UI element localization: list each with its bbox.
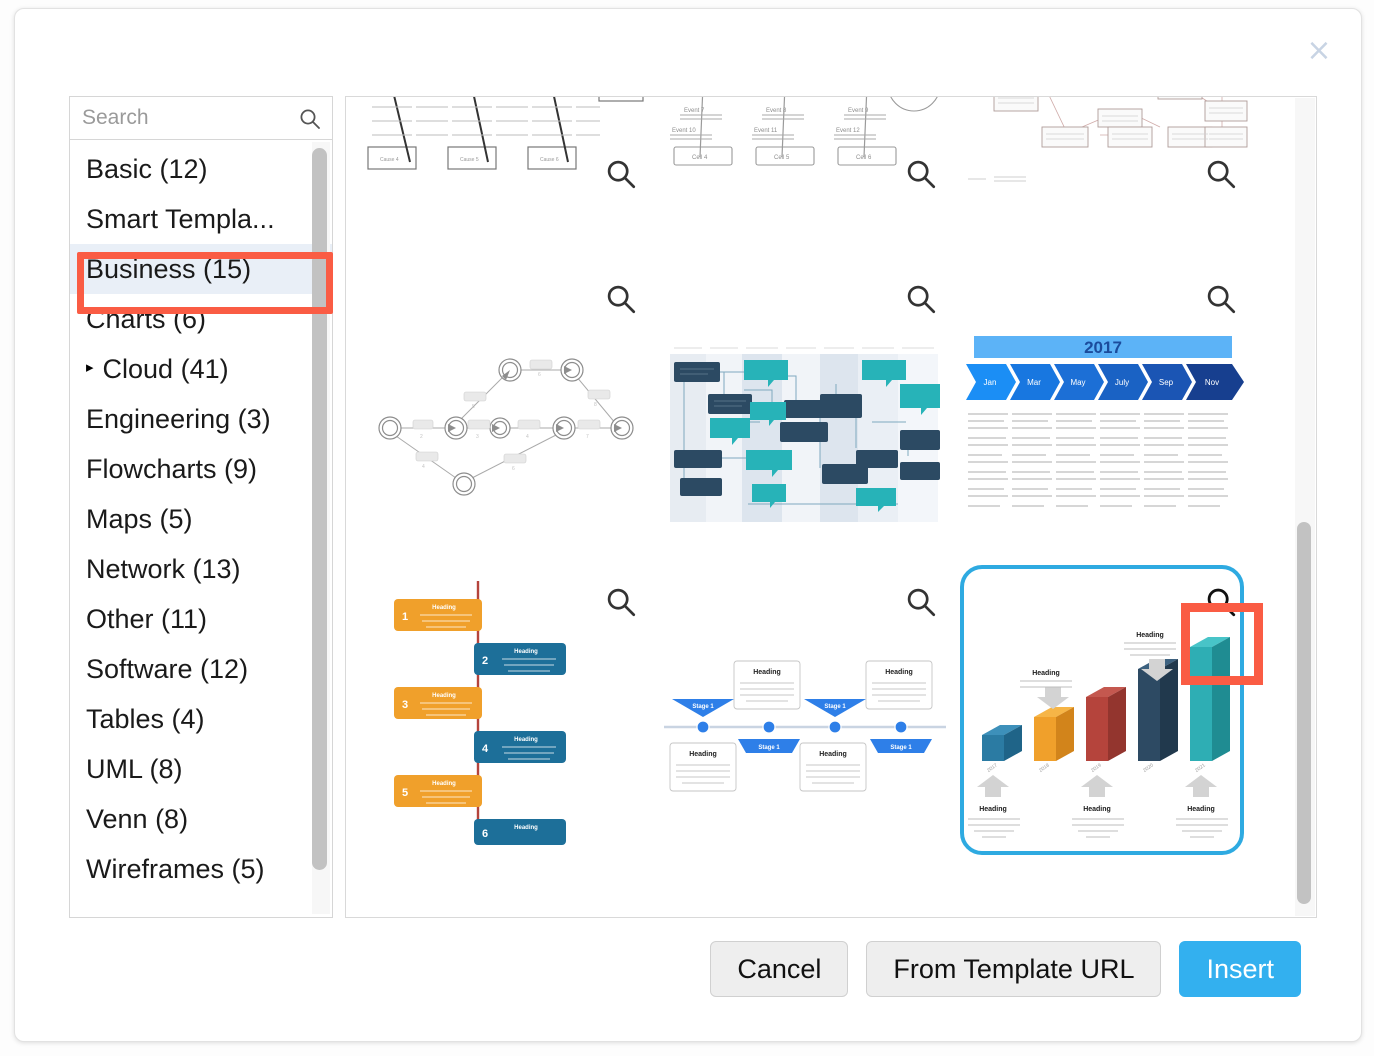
svg-text:4: 4 [526, 434, 529, 440]
sidebar-scrollbar-thumb[interactable] [312, 148, 327, 870]
sidebar-item-label: Cloud (41) [103, 354, 229, 385]
template-item-vertical-zigzag-timeline[interactable]: 12 34 5 HeadingHeading HeadingHeading He… [360, 575, 650, 847]
svg-text:Heading: Heading [885, 669, 913, 676]
sidebar-item-business-15[interactable]: Business (15) [70, 244, 332, 294]
svg-text:2019: 2019 [1090, 762, 1103, 773]
svg-text:5: 5 [472, 404, 475, 410]
svg-text:May: May [1070, 378, 1085, 387]
svg-text:3: 3 [402, 699, 408, 711]
sidebar-item-label: Smart Templa... [86, 204, 275, 235]
svg-text:Stage 1: Stage 1 [890, 745, 912, 751]
svg-text:Cell 5: Cell 5 [774, 155, 790, 161]
svg-text:Event 12: Event 12 [836, 128, 860, 134]
sidebar-item-label: Tables (4) [86, 704, 205, 735]
svg-text:2: 2 [420, 434, 423, 440]
sidebar-item-label: Engineering (3) [86, 404, 271, 435]
svg-text:Heading: Heading [689, 751, 717, 758]
sidebar-item-flowcharts-9[interactable]: Flowcharts (9) [70, 444, 332, 494]
sidebar-item-engineering-3[interactable]: Engineering (3) [70, 394, 332, 444]
svg-text:Stage 1: Stage 1 [758, 745, 780, 751]
svg-text:Sep: Sep [1159, 378, 1174, 387]
svg-text:4: 4 [482, 743, 489, 755]
svg-text:Event 11: Event 11 [754, 128, 778, 134]
expand-arrow-icon[interactable]: ▸ [86, 358, 94, 376]
svg-text:2: 2 [482, 655, 488, 667]
template-row: Cause 1Cause 2 Cause 3Cause 4 Cause 5Cau… [346, 96, 1286, 239]
svg-text:1: 1 [402, 611, 408, 623]
svg-text:Cell 4: Cell 4 [692, 155, 708, 161]
sidebar-item-label: Flowcharts (9) [86, 454, 257, 485]
magnifier-icon[interactable] [904, 585, 938, 619]
template-item-activity-on-arrow-network[interactable]: 23 47 56 84 6 [360, 272, 650, 544]
svg-text:Heading: Heading [514, 825, 538, 831]
sidebar-item-label: Venn (8) [86, 804, 188, 835]
sidebar-item-label: UML (8) [86, 754, 183, 785]
svg-text:Heading: Heading [1032, 670, 1060, 677]
sidebar-item-label: Wireframes (5) [86, 854, 265, 885]
svg-text:Nov: Nov [1205, 378, 1219, 387]
magnifier-icon[interactable] [604, 157, 638, 191]
template-item-fishbone-cause-effect[interactable]: Cause 1Cause 2 Cause 3Cause 4 Cause 5Cau… [360, 96, 650, 239]
svg-text:Event 7: Event 7 [684, 108, 705, 114]
sidebar-item-charts-6[interactable]: Charts (6) [70, 294, 332, 344]
search-icon [298, 107, 322, 131]
svg-text:Heading: Heading [819, 751, 847, 758]
svg-text:Heading: Heading [1083, 806, 1111, 813]
template-item-swimlane-flowchart[interactable] [660, 272, 950, 544]
sidebar-item-maps-5[interactable]: Maps (5) [70, 494, 332, 544]
category-list-container: Basic (12)Smart Templa...Business (15)Ch… [69, 140, 333, 918]
svg-text:Mar: Mar [1027, 378, 1041, 387]
grid-scrollbar-thumb[interactable] [1297, 522, 1311, 904]
svg-text:Heading: Heading [753, 669, 781, 676]
svg-text:3: 3 [476, 434, 479, 440]
sidebar-item-label: Basic (12) [86, 154, 208, 185]
svg-text:Event 10: Event 10 [672, 128, 696, 134]
svg-text:5: 5 [402, 787, 408, 799]
sidebar-item-label: Other (11) [86, 604, 207, 635]
sidebar-item-network-13[interactable]: Network (13) [70, 544, 332, 594]
svg-text:2017: 2017 [986, 762, 999, 773]
svg-text:Event 8: Event 8 [766, 108, 787, 114]
magnifier-icon[interactable] [1204, 585, 1238, 619]
magnifier-icon[interactable] [1204, 157, 1238, 191]
template-item-year-timeline-2017[interactable]: 2017 JanMar MayJuly [960, 272, 1250, 544]
screen-root: × Basic (12)Smart Templa...Business (15)… [0, 0, 1374, 1056]
template-item-pert-network-chart[interactable] [960, 96, 1250, 239]
template-picker-dialog: × Basic (12)Smart Templa...Business (15)… [14, 8, 1362, 1042]
template-item-horizontal-stage-timeline[interactable]: HeadingHeading HeadingHeading [660, 575, 950, 847]
svg-text:Cause 5: Cause 5 [460, 157, 479, 163]
svg-text:2021: 2021 [1194, 762, 1207, 773]
magnifier-icon[interactable] [904, 157, 938, 191]
category-sidebar: Basic (12)Smart Templa...Business (15)Ch… [69, 96, 333, 918]
svg-text:Cause 6: Cause 6 [540, 157, 559, 163]
category-list: Basic (12)Smart Templa...Business (15)Ch… [70, 140, 332, 894]
close-icon[interactable]: × [1297, 29, 1341, 73]
sidebar-item-label: Software (12) [86, 654, 248, 685]
magnifier-icon[interactable] [604, 585, 638, 619]
template-item-fishbone-event-cell[interactable]: Event 4Event 5Event 6 Event 7Event 8Even… [660, 96, 950, 239]
sidebar-item-other-11[interactable]: Other (11) [70, 594, 332, 644]
cancel-button[interactable]: Cancel [710, 941, 848, 997]
svg-text:Stage 1: Stage 1 [692, 704, 714, 710]
sidebar-item-cloud-41[interactable]: ▸Cloud (41) [70, 344, 332, 394]
svg-text:Heading: Heading [979, 806, 1007, 813]
svg-text:Heading: Heading [432, 693, 456, 699]
from-template-url-button[interactable]: From Template URL [866, 941, 1161, 997]
svg-text:Heading: Heading [514, 737, 538, 743]
svg-text:Cell 6: Cell 6 [856, 155, 872, 161]
sidebar-item-label: Charts (6) [86, 304, 206, 335]
template-grid-panel: Cause 1Cause 2 Cause 3Cause 4 Cause 5Cau… [345, 96, 1317, 918]
svg-text:Cause 4: Cause 4 [380, 157, 399, 163]
dialog-footer: Cancel From Template URL Insert [15, 941, 1361, 1021]
search-box[interactable] [69, 96, 333, 140]
svg-text:Event 9: Event 9 [848, 108, 869, 114]
magnifier-icon[interactable] [904, 282, 938, 316]
sidebar-item-smart-templa[interactable]: Smart Templa... [70, 194, 332, 244]
sidebar-item-label: Business (15) [86, 254, 251, 285]
sidebar-item-uml-8[interactable]: UML (8) [70, 744, 332, 794]
sidebar-item-software-12[interactable]: Software (12) [70, 644, 332, 694]
sidebar-item-venn-8[interactable]: Venn (8) [70, 794, 332, 844]
sidebar-item-wireframes-5[interactable]: Wireframes (5) [70, 844, 332, 894]
template-row: 12 34 5 HeadingHeading HeadingHeading He… [346, 575, 1286, 847]
svg-text:6: 6 [538, 372, 541, 378]
svg-text:Heading: Heading [432, 781, 456, 787]
template-row: 23 47 56 84 6 [346, 272, 1286, 544]
timeline-year-label: 2017 [1084, 338, 1122, 357]
magnifier-icon[interactable] [604, 282, 638, 316]
sidebar-item-tables-4[interactable]: Tables (4) [70, 694, 332, 744]
magnifier-icon[interactable] [1204, 282, 1238, 316]
svg-text:Heading: Heading [1136, 632, 1164, 639]
sidebar-scrollbar-track[interactable] [312, 142, 330, 914]
insert-button[interactable]: Insert [1179, 941, 1301, 997]
search-input[interactable] [70, 98, 284, 138]
svg-text:Jan: Jan [984, 378, 997, 387]
grid-scrollbar-track[interactable] [1295, 98, 1315, 916]
svg-text:2018: 2018 [1038, 762, 1051, 773]
svg-text:8: 8 [594, 402, 597, 408]
svg-text:Stage 1: Stage 1 [824, 704, 846, 710]
svg-text:July: July [1115, 378, 1129, 387]
svg-text:7: 7 [586, 434, 589, 440]
sidebar-item-basic-12[interactable]: Basic (12) [70, 144, 332, 194]
svg-text:4: 4 [422, 464, 425, 470]
sidebar-item-label: Maps (5) [86, 504, 193, 535]
svg-text:Heading: Heading [1187, 806, 1215, 813]
sidebar-item-label: Network (13) [86, 554, 241, 585]
svg-text:2020: 2020 [1142, 762, 1155, 773]
svg-text:6: 6 [482, 828, 488, 840]
svg-text:Heading: Heading [514, 649, 538, 655]
template-item-3d-bar-chart-infographic[interactable]: 2017 2018 2019 2020 2021 [960, 575, 1250, 847]
svg-text:Heading: Heading [432, 605, 456, 611]
svg-text:6: 6 [512, 466, 515, 472]
